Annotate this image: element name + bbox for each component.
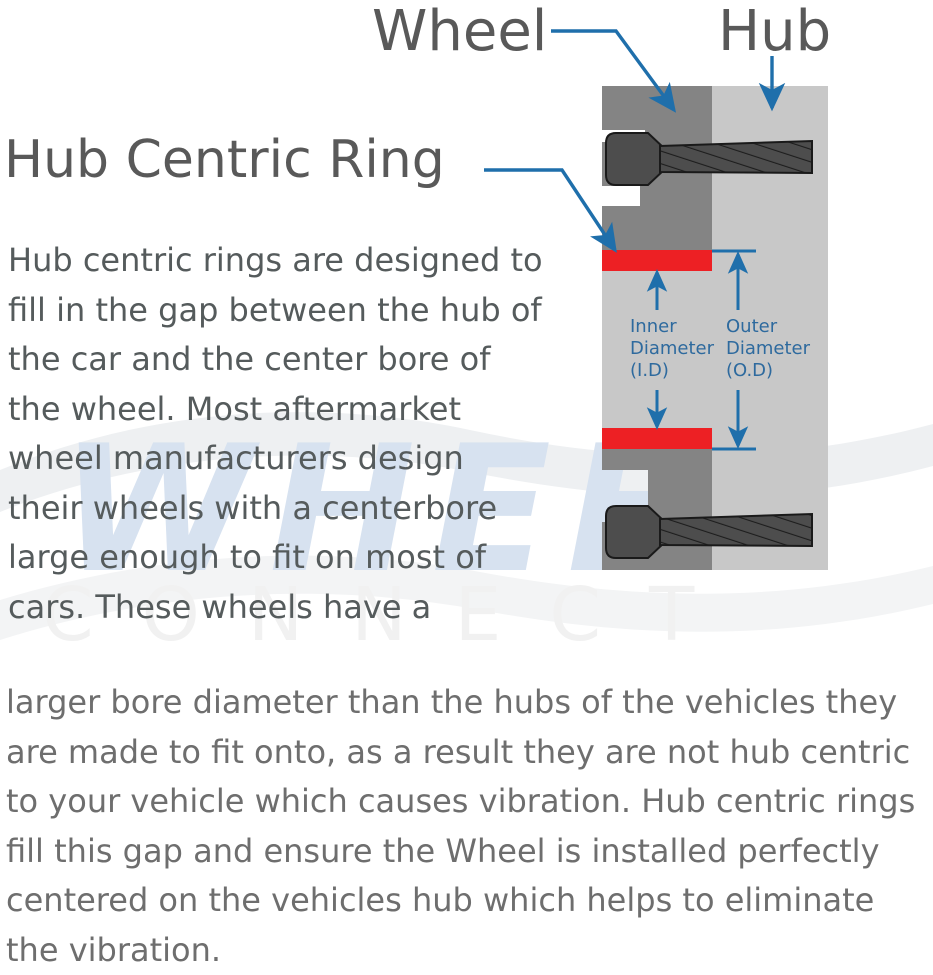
bolt-upper-shank (660, 141, 812, 173)
bolt-upper-head (606, 133, 664, 185)
hub-centric-ring-lower (602, 428, 712, 449)
hub-heading: Hub (718, 2, 831, 62)
description-paragraph-narrow: Hub centric rings are designed to fill i… (8, 236, 548, 632)
inner-diameter-label-line3: (I.D) (630, 360, 669, 381)
inner-diameter-label-line1: Inner (630, 316, 677, 337)
hub-centric-ring-heading: Hub Centric Ring (4, 131, 445, 189)
illustration-root: WHEEL CONNECT (0, 0, 933, 973)
bolt-lower-shank (660, 514, 812, 546)
bolt-lower-head (606, 506, 664, 558)
outer-diameter-label-line1: Outer (726, 316, 778, 337)
wheel-heading: Wheel (372, 2, 547, 62)
hub-centric-ring-upper (602, 250, 712, 271)
inner-diameter-label-line2: Diameter (630, 338, 715, 359)
wheel-mid-lower-face (648, 448, 712, 570)
description-paragraph-wide: larger bore diameter than the hubs of th… (6, 678, 931, 975)
outer-diameter-label-line3: (O.D) (726, 360, 773, 381)
outer-diameter-label-line2: Diameter (726, 338, 811, 359)
